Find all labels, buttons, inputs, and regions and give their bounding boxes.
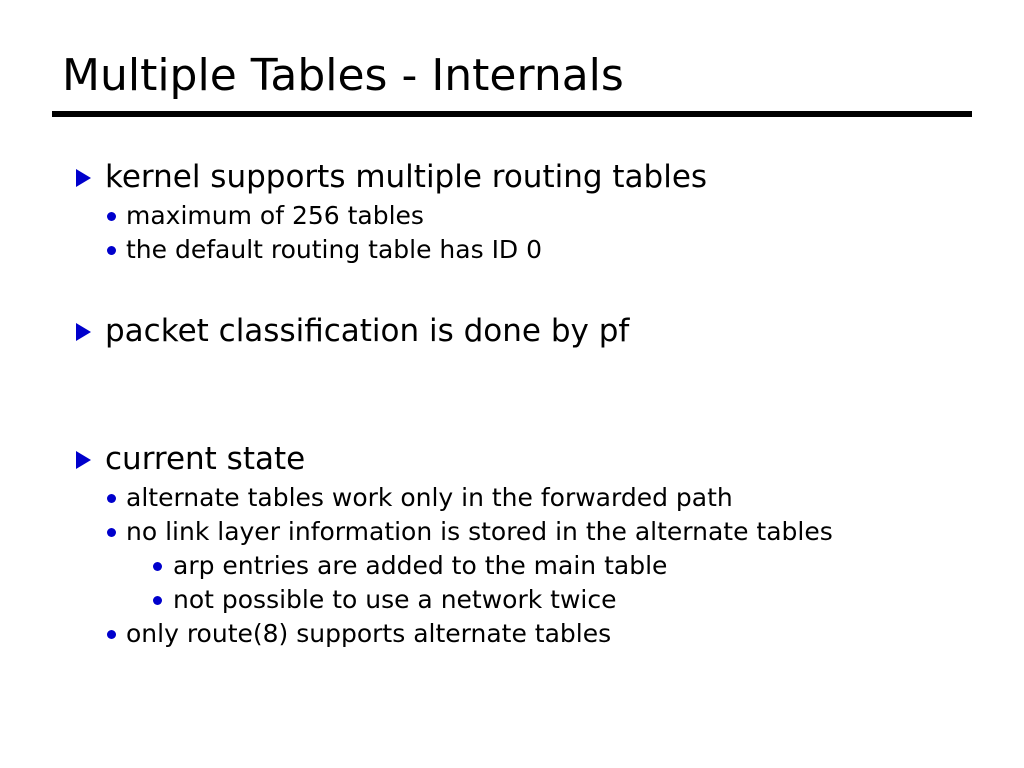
bullet-item-level1: packet classification is done by pf bbox=[0, 309, 1024, 353]
presentation-slide: Multiple Tables - Internals kernel suppo… bbox=[0, 0, 1024, 768]
bullet-item-level2: maximum of 256 tables bbox=[0, 199, 1024, 233]
triangle-right-bullet-icon bbox=[76, 169, 91, 187]
bullet-text: not possible to use a network twice bbox=[173, 583, 617, 617]
bullet-text: no link layer information is stored in t… bbox=[126, 515, 833, 549]
bullet-text: the default routing table has ID 0 bbox=[126, 233, 542, 267]
slide-body-outline: kernel supports multiple routing tables … bbox=[0, 155, 1024, 651]
bullet-item-level2: alternate tables work only in the forwar… bbox=[0, 481, 1024, 515]
dot-bullet-icon bbox=[153, 562, 162, 571]
bullet-text: arp entries are added to the main table bbox=[173, 549, 667, 583]
bullet-item-level1: kernel supports multiple routing tables bbox=[0, 155, 1024, 199]
bullet-text: only route(8) supports alternate tables bbox=[126, 617, 611, 651]
dot-bullet-icon bbox=[153, 596, 162, 605]
bullet-item-level2: the default routing table has ID 0 bbox=[0, 233, 1024, 267]
bullet-text: packet classification is done by pf bbox=[105, 309, 629, 353]
dot-bullet-icon bbox=[107, 246, 116, 255]
triangle-right-bullet-icon bbox=[76, 323, 91, 341]
slide-title: Multiple Tables - Internals bbox=[62, 50, 624, 102]
bullet-text: maximum of 256 tables bbox=[126, 199, 424, 233]
group-spacer bbox=[0, 353, 1024, 395]
dot-bullet-icon bbox=[107, 494, 116, 503]
bullet-text: kernel supports multiple routing tables bbox=[105, 155, 707, 199]
dot-bullet-icon bbox=[107, 212, 116, 221]
group-spacer bbox=[0, 395, 1024, 437]
title-underline-rule bbox=[52, 111, 972, 117]
bullet-item-level3: arp entries are added to the main table bbox=[0, 549, 1024, 583]
triangle-right-bullet-icon bbox=[76, 451, 91, 469]
bullet-item-level3: not possible to use a network twice bbox=[0, 583, 1024, 617]
bullet-item-level1: current state bbox=[0, 437, 1024, 481]
group-spacer bbox=[0, 267, 1024, 309]
bullet-item-level2: only route(8) supports alternate tables bbox=[0, 617, 1024, 651]
dot-bullet-icon bbox=[107, 630, 116, 639]
dot-bullet-icon bbox=[107, 528, 116, 537]
bullet-text: alternate tables work only in the forwar… bbox=[126, 481, 733, 515]
bullet-text: current state bbox=[105, 437, 305, 481]
bullet-item-level2: no link layer information is stored in t… bbox=[0, 515, 1024, 549]
